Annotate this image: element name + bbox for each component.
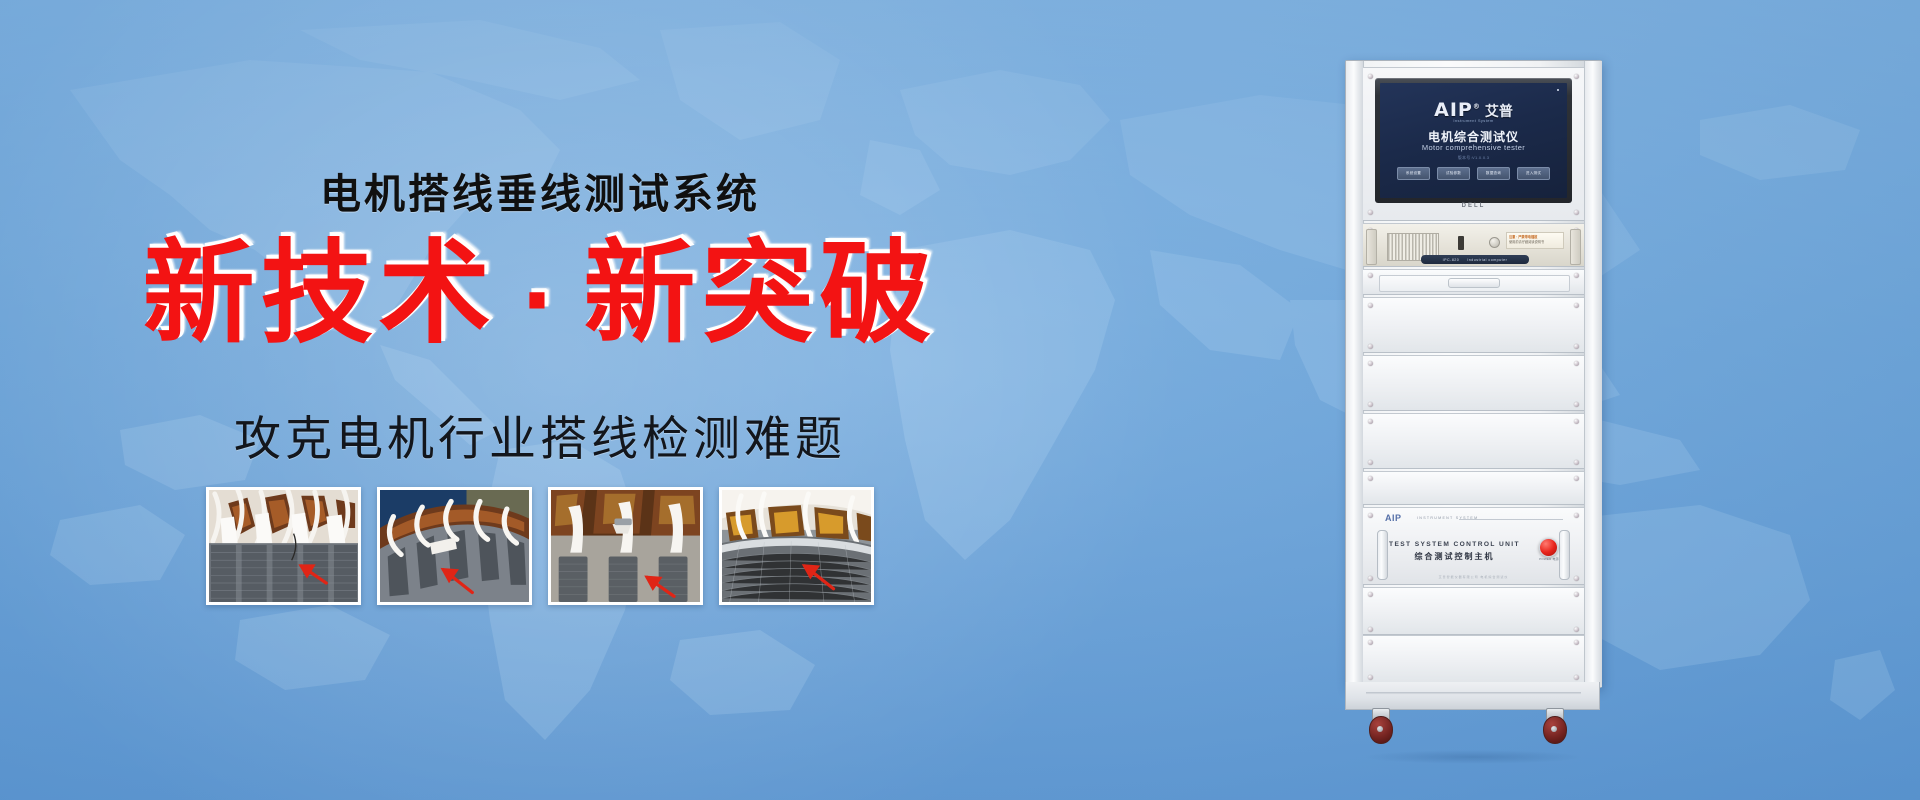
drawer-handle[interactable] <box>1448 278 1500 288</box>
drawer-bay[interactable] <box>1363 269 1584 295</box>
control-unit-rule <box>1459 519 1563 520</box>
screen-button-params[interactable]: 试验参数 <box>1437 167 1470 180</box>
drive-slot[interactable] <box>1458 236 1464 250</box>
panel-screw <box>1368 419 1373 424</box>
rack-rail-left <box>1346 61 1364 687</box>
panel-screw <box>1574 513 1579 518</box>
caster-hub <box>1551 726 1557 732</box>
screen-title-en: Motor comprehensive tester <box>1380 143 1567 152</box>
panel-screw <box>1368 460 1373 465</box>
stator-winding-photo-2 <box>380 490 529 602</box>
thumbnail-4[interactable] <box>719 487 874 605</box>
power-button-icon[interactable] <box>1489 237 1500 248</box>
copy-block: 电机搭线垂线测试系统 新技术·新突破 攻克电机行业搭线检测难题 <box>0 0 1080 800</box>
screen-button-settings[interactable]: 系统设置 <box>1397 167 1430 180</box>
panel-screw <box>1368 74 1373 79</box>
monitor-bezel: AIP®艾普 Instrument System 电机综合测试仪 Motor c… <box>1375 78 1572 203</box>
monitor-bay: AIP®艾普 Instrument System 电机综合测试仪 Motor c… <box>1363 67 1584 221</box>
headline-part-left: 新技术 <box>143 229 497 359</box>
panel-screw <box>1574 210 1579 215</box>
aip-logo-tagline: Instrument System <box>1380 118 1567 123</box>
thumbnail-1[interactable] <box>206 487 361 605</box>
screen-version: 版本号:V1.0.0.3 <box>1380 155 1567 161</box>
panel-screw <box>1574 303 1579 308</box>
rack-plinth <box>1345 682 1600 710</box>
stator-winding-photo-3 <box>551 490 700 602</box>
banner-headline: 新技术·新突破 <box>0 232 1080 357</box>
rack-frame: AIP®艾普 Instrument System 电机综合测试仪 Motor c… <box>1345 60 1602 688</box>
panel-screw <box>1574 592 1579 597</box>
panel-screw <box>1368 476 1373 481</box>
panel-screw <box>1368 303 1373 308</box>
banner-subtitle: 电机搭线垂线测试系统 <box>0 160 1080 220</box>
panel-screw <box>1574 419 1579 424</box>
industrial-computer-bay: 注意 · 严禁带电插拔 使用前请仔细阅读说明书 IPC-820 Industri… <box>1363 223 1584 267</box>
control-unit-footer: 艾普智能仪器有限公司 电机综合测试仪 <box>1363 575 1584 579</box>
panel-screw <box>1368 361 1373 366</box>
blank-panel-5 <box>1363 587 1584 635</box>
panel-screw <box>1368 513 1373 518</box>
blank-panel-6 <box>1363 635 1584 683</box>
panel-screw <box>1368 640 1373 645</box>
screen-pixel-dot <box>1557 89 1559 91</box>
panel-screw <box>1368 592 1373 597</box>
stator-winding-photo-1 <box>209 490 358 602</box>
rack-ear-right <box>1570 229 1581 265</box>
caster-wheel-left <box>1369 708 1391 744</box>
panel-screw <box>1368 210 1373 215</box>
monitor-brand-label: DELL <box>1375 203 1572 209</box>
registered-icon: ® <box>1473 103 1481 111</box>
rack-rail-right <box>1584 61 1602 687</box>
screen-button-row: 系统设置 试验参数 数据查询 进入测试 <box>1380 167 1567 180</box>
blank-panel-1 <box>1363 297 1584 353</box>
caster-hub <box>1377 726 1383 732</box>
ipc-model-plate: IPC-820 Industrial computer <box>1421 255 1529 264</box>
panel-screw <box>1368 675 1373 680</box>
panel-screw <box>1574 344 1579 349</box>
emergency-power-button[interactable] <box>1539 538 1558 557</box>
panel-screw <box>1368 273 1373 278</box>
plinth-vent-slot <box>1366 692 1581 695</box>
thumbnail-2[interactable] <box>377 487 532 605</box>
stator-winding-photo-4 <box>722 490 871 602</box>
panel-screw <box>1574 402 1579 407</box>
test-equipment-rack: AIP®艾普 Instrument System 电机综合测试仪 Motor c… <box>1345 60 1640 740</box>
power-button-label: POWER 电源 <box>1534 557 1564 562</box>
panel-screw <box>1368 344 1373 349</box>
control-unit-brand: AIP <box>1385 513 1402 523</box>
banner-tagline: 攻克电机行业搭线检测难题 <box>0 400 1080 469</box>
headline-separator-dot: · <box>521 253 560 349</box>
panel-screw <box>1574 675 1579 680</box>
headline-part-right: 新突破 <box>583 229 937 359</box>
caster-wheel-right <box>1543 708 1565 744</box>
warning-label: 注意 · 严禁带电插拔 使用前请仔细阅读说明书 <box>1506 232 1564 249</box>
rack-ear-left <box>1366 229 1377 265</box>
panel-screw <box>1574 273 1579 278</box>
rack-ground-shadow <box>1363 750 1583 764</box>
warning-body: 使用前请仔细阅读说明书 <box>1509 240 1561 245</box>
panel-screw <box>1574 627 1579 632</box>
screen-button-start[interactable]: 进入测试 <box>1517 167 1550 180</box>
promo-banner: 电机搭线垂线测试系统 新技术·新突破 攻克电机行业搭线检测难题 <box>0 0 1920 800</box>
ipc-model: IPC-820 <box>1443 258 1460 262</box>
panel-screw <box>1574 460 1579 465</box>
panel-screw <box>1574 476 1579 481</box>
thumbnail-3[interactable] <box>548 487 703 605</box>
panel-screw <box>1574 640 1579 645</box>
screen-button-query[interactable]: 数据查询 <box>1477 167 1510 180</box>
panel-screw <box>1368 402 1373 407</box>
panel-screw <box>1368 627 1373 632</box>
panel-screw <box>1574 74 1579 79</box>
ipc-model-label: Industrial computer <box>1467 258 1507 262</box>
monitor-screen[interactable]: AIP®艾普 Instrument System 电机综合测试仪 Motor c… <box>1380 83 1567 198</box>
blank-panel-2 <box>1363 355 1584 411</box>
control-unit-bay: AIP INSTRUMENT SYSTEM TEST SYSTEM CONTRO… <box>1363 507 1584 585</box>
blank-panel-4 <box>1363 471 1584 505</box>
blank-panel-3 <box>1363 413 1584 469</box>
thumbnail-strip <box>0 487 1080 605</box>
panel-screw <box>1574 361 1579 366</box>
